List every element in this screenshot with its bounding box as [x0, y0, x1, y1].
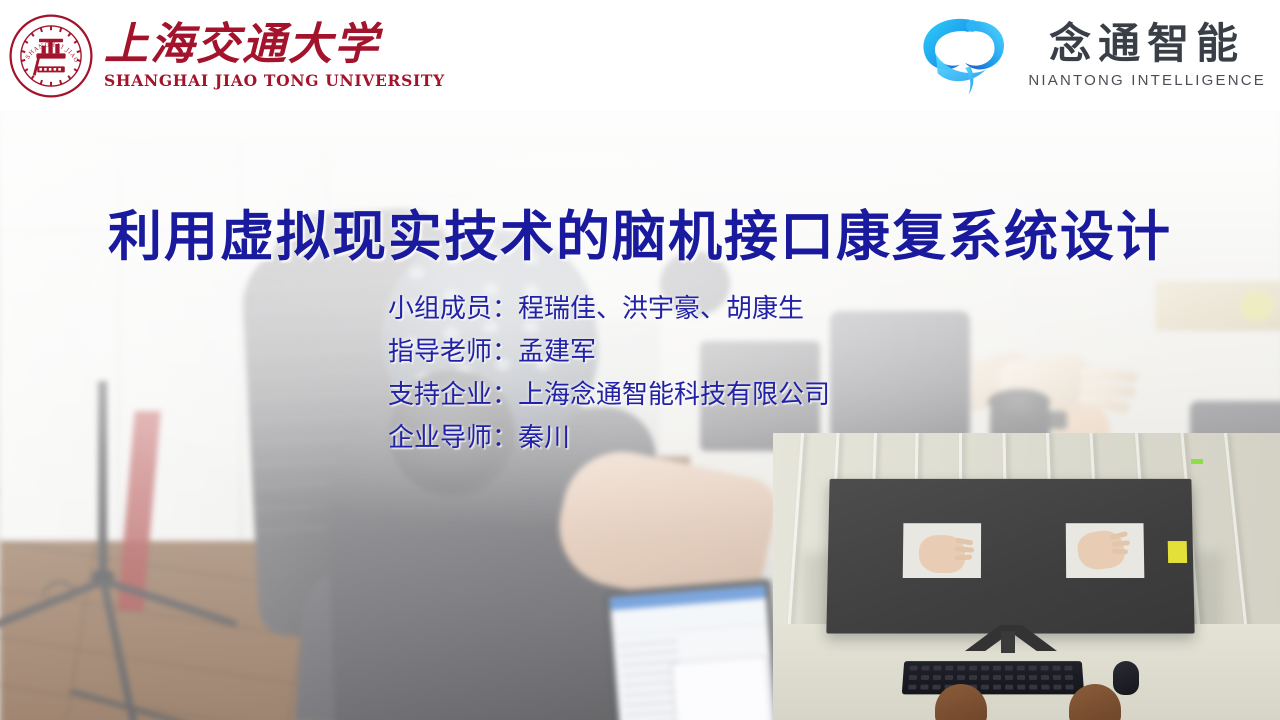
niantong-brain-swirl-icon — [918, 13, 1014, 99]
sjtu-name-en: SHANGHAI JIAO TONG UNIVERSITY — [104, 71, 445, 90]
sjtu-wordmark: 上海交通大学 SHANGHAI JIAO TONG UNIVERSITY — [104, 22, 445, 90]
bottle-cap — [988, 389, 1050, 415]
vr-scene-inset — [773, 433, 1280, 720]
laptop-dialog-window — [671, 655, 773, 720]
info-line-supervisor: 指导老师：孟建军 — [388, 331, 830, 374]
niantong-name-en: NIANTONG INTELLIGENCE — [1028, 72, 1266, 89]
tripod-pole — [98, 381, 107, 581]
vr-monitor-neck — [1001, 631, 1015, 653]
niantong-wordmark: 念通智能 NIANTONG INTELLIGENCE — [1028, 23, 1266, 89]
niantong-name-cn: 念通智能 — [1049, 23, 1245, 65]
vr-cue-highlight-box — [1168, 541, 1187, 563]
vr-left-hand-panel — [903, 523, 981, 578]
presenter-info-block: 小组成员：程瑞佳、洪宇豪、胡康生 指导老师：孟建军 支持企业：上海念通智能科技有… — [388, 288, 830, 460]
vr-keyboard — [902, 661, 1084, 694]
info-line-company-mentor: 企业导师：秦川 — [388, 417, 830, 460]
laptop-lid — [603, 579, 789, 720]
vr-mouse — [1113, 661, 1139, 695]
vr-monitor — [826, 479, 1194, 634]
sjtu-seal-icon: SHANGHAI JIAO TONG UNIVERSITY — [8, 13, 94, 99]
slide-title: 利用虚拟现实技术的脑机接口康复系统设计 — [0, 192, 1280, 271]
laptop — [603, 579, 789, 720]
niantong-logo: 念通智能 NIANTONG INTELLIGENCE — [918, 6, 1266, 106]
yellow-object — [1240, 291, 1274, 321]
laptop-screen — [610, 585, 782, 720]
presentation-slide: 利用虚拟现实技术的脑机接口康复系统设计 小组成员：程瑞佳、洪宇豪、胡康生 指导老… — [0, 0, 1280, 720]
info-line-team-members: 小组成员：程瑞佳、洪宇豪、胡康生 — [388, 288, 830, 331]
lab-device — [830, 311, 970, 441]
sjtu-name-cn: 上海交通大学 — [104, 22, 445, 68]
sjtu-logo: SHANGHAI JIAO TONG UNIVERSITY 上海交通大学 SHA… — [8, 6, 368, 106]
vr-status-indicator — [1191, 459, 1203, 464]
vr-right-hand-panel — [1066, 523, 1145, 578]
info-line-company: 支持企业：上海念通智能科技有限公司 — [388, 374, 830, 417]
header-band: SHANGHAI JIAO TONG UNIVERSITY 上海交通大学 SHA… — [0, 0, 1280, 111]
